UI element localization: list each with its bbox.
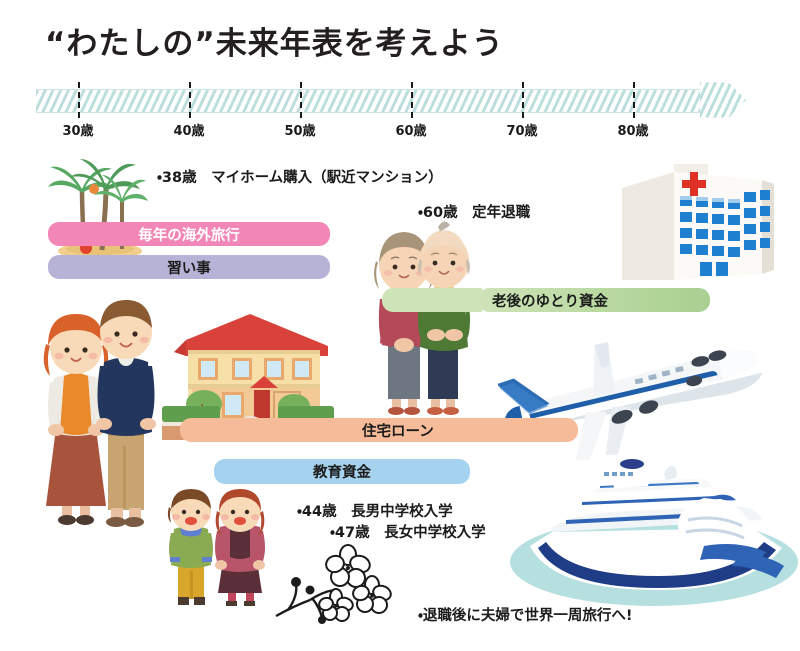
- bar-retirement-fund[interactable]: 老後のゆとり資金: [478, 288, 710, 312]
- young-couple-illustration: [34, 296, 162, 531]
- bar-retirement-fund-label: 老後のゆとり資金: [492, 290, 608, 311]
- timeline-label-60: 60歳: [395, 120, 426, 139]
- cruise-ship-illustration: [508, 450, 800, 608]
- timeline-tick-40: [189, 82, 191, 118]
- bar-lessons-label: 習い事: [167, 257, 211, 278]
- timeline-label-50: 50歳: [284, 120, 315, 139]
- timeline-label-40: 40歳: [173, 120, 204, 139]
- event-text-age-38: ・38歳 マイホーム購入（駅近マンション）: [157, 166, 443, 187]
- timeline-label-70: 70歳: [506, 120, 537, 139]
- timeline-tick-30: [78, 82, 80, 118]
- timeline-arrow-head-icon: [700, 79, 746, 121]
- timeline-band: [36, 89, 708, 113]
- infographic-canvas: “わたしの”未来年表を考えよう 30歳 40歳 50歳 60歳 70歳 80歳 …: [0, 0, 800, 651]
- timeline-tick-50: [300, 82, 302, 118]
- timeline-tick-80: [633, 82, 635, 118]
- timeline-axis: 30歳 40歳 50歳 60歳 70歳 80歳: [0, 80, 800, 142]
- bar-housing-loan-label: 住宅ローン: [362, 420, 434, 441]
- bar-retirement-fund-tail: [382, 288, 482, 312]
- bar-education-fund-label: 教育資金: [313, 461, 371, 482]
- timeline-label-80: 80歳: [617, 120, 648, 139]
- bar-overseas-travel-label: 毎年の海外旅行: [138, 224, 240, 245]
- event-text-age-44: ・44歳 長男中学校入学: [297, 500, 453, 521]
- elderly-couple-illustration: [362, 215, 482, 420]
- hospital-building-illustration: [612, 162, 782, 287]
- cherry-blossom-branch-illustration: [272, 538, 392, 626]
- page-title: “わたしの”未来年表を考えよう: [45, 18, 504, 63]
- bar-lessons[interactable]: 習い事: [48, 255, 330, 279]
- timeline-tick-60: [411, 82, 413, 118]
- timeline-label-30: 30歳: [62, 120, 93, 139]
- bar-housing-loan[interactable]: 住宅ローン: [180, 418, 578, 442]
- children-illustration: [166, 487, 276, 607]
- bar-overseas-travel[interactable]: 毎年の海外旅行: [48, 222, 330, 246]
- timeline-tick-70: [522, 82, 524, 118]
- bar-education-fund[interactable]: 教育資金: [214, 459, 470, 484]
